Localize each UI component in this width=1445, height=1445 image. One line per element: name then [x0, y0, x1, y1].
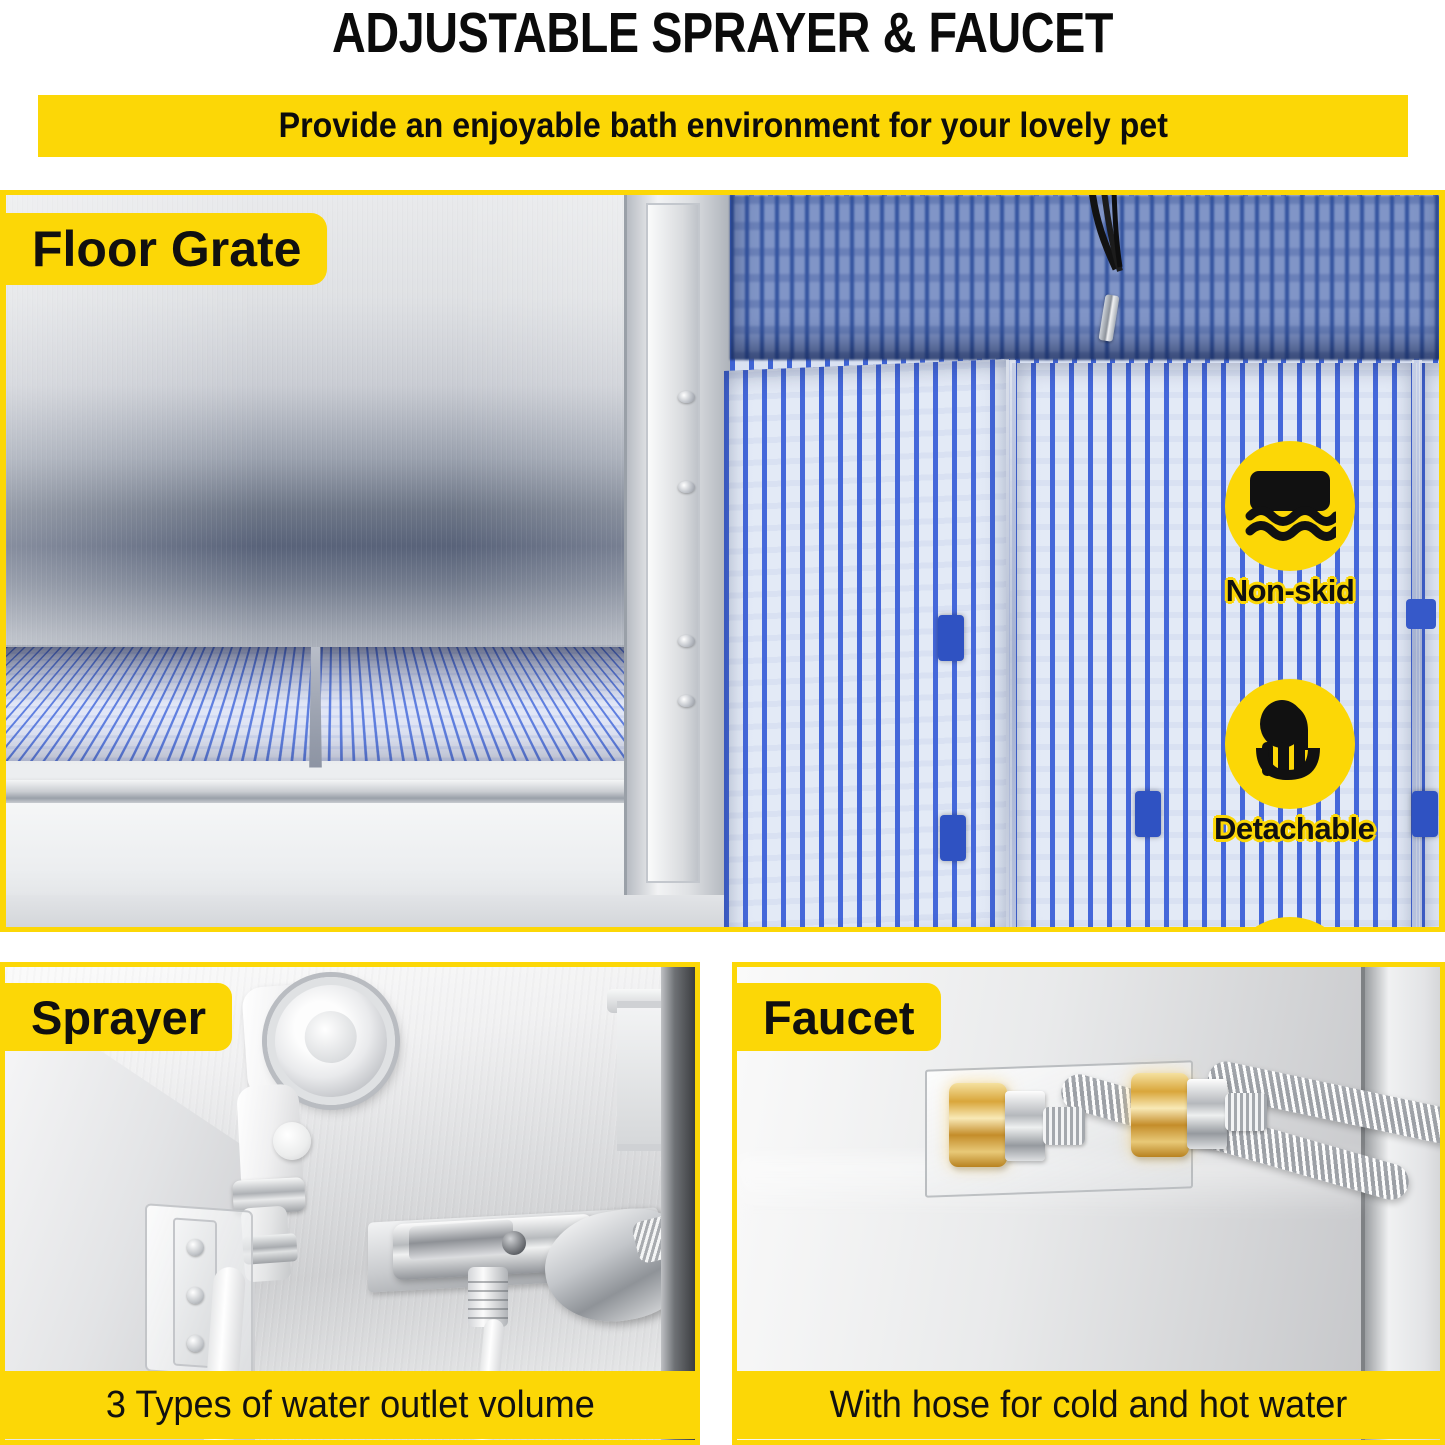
caption-faucet-text: With hose for cold and hot water [830, 1384, 1348, 1427]
door-rivet [678, 391, 695, 403]
hose-ferrule [1043, 1107, 1085, 1145]
door-rivet [678, 635, 695, 647]
tub-side-door-inner [646, 203, 700, 883]
door-rivet [678, 481, 695, 493]
subtitle-banner: Provide an enjoyable bath environment fo… [38, 95, 1408, 157]
hose-ferrule [1225, 1093, 1267, 1131]
badge-detachable-label: Detachable [1214, 811, 1366, 847]
bracket-screw [187, 1239, 204, 1256]
badge-non-skid: Non-skid [1214, 441, 1366, 609]
bracket-screw [187, 1335, 204, 1352]
grate-connector-clip [938, 615, 964, 661]
caption-faucet: With hose for cold and hot water [732, 1371, 1445, 1439]
tag-sprayer-label: Sprayer [31, 990, 206, 1045]
no-soak-basin-icon [1225, 917, 1355, 932]
mixer-outlet-rings [468, 1279, 508, 1319]
faucet-side-wall [1361, 967, 1445, 1440]
mixer-lever-pivot [502, 1231, 526, 1255]
brass-fitting-cold [949, 1083, 1007, 1167]
sprayer-mode-button[interactable] [273, 1122, 311, 1160]
subtitle-text: Provide an enjoyable bath environment fo… [278, 106, 1167, 146]
caption-sprayer-text: 3 Types of water outlet volume [106, 1384, 595, 1427]
tag-faucet: Faucet [737, 983, 941, 1051]
tub-base [6, 895, 730, 932]
panel-floor-grate: Floor Grate Non-skid [0, 190, 1445, 932]
grate-sheet [1420, 363, 1445, 932]
tag-floor-grate: Floor Grate [6, 213, 327, 285]
non-skid-waves-icon [1225, 441, 1355, 571]
page-title: ADJUSTABLE SPRAYER & FAUCET [130, 2, 1315, 64]
caption-sprayer: 3 Types of water outlet volume [0, 1371, 700, 1439]
sprayer-panel-right-edge [661, 967, 695, 1440]
grate-connector-clip [1412, 791, 1438, 837]
badge-no-soak: No Soak [1214, 917, 1366, 932]
grate-connector-clip [940, 815, 966, 861]
grate-floor-seam [309, 647, 322, 767]
infographic-page: ADJUSTABLE SPRAYER & FAUCET Provide an e… [0, 0, 1445, 1445]
hanging-cord [1082, 191, 1128, 311]
grate-connector-clip [1406, 599, 1436, 629]
grate-connector-clip [1135, 791, 1161, 837]
hand-grip-icon [1225, 679, 1355, 809]
brass-fitting-hot [1131, 1073, 1189, 1157]
mixer-lever-handle[interactable] [409, 1219, 513, 1260]
door-rivet [678, 695, 695, 707]
bracket-screw [187, 1287, 204, 1304]
tub-photo [6, 195, 730, 927]
badge-detachable: Detachable [1214, 679, 1366, 847]
tag-floor-grate-label: Floor Grate [32, 220, 301, 278]
grate-sheet-gap [1412, 360, 1422, 932]
tag-faucet-label: Faucet [763, 990, 915, 1045]
hex-nut [1187, 1079, 1227, 1149]
tag-sprayer: Sprayer [5, 983, 232, 1051]
hex-nut [1005, 1091, 1045, 1161]
grate-sheet [724, 359, 1010, 932]
grate-sheet-gap [1006, 360, 1016, 932]
badge-non-skid-label: Non-skid [1214, 573, 1366, 609]
